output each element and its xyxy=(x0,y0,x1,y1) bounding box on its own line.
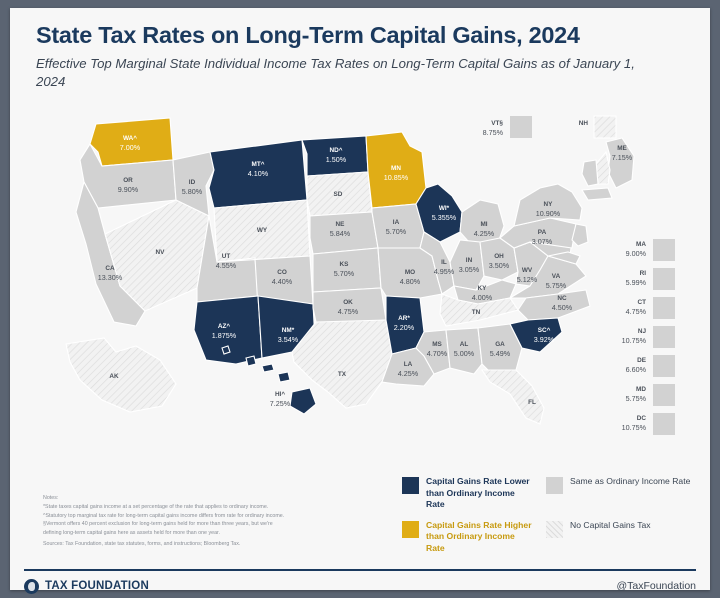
state-ok[interactable] xyxy=(313,288,386,324)
svg-text:10.75%: 10.75% xyxy=(622,336,647,345)
legend-swatch-hatch xyxy=(546,521,563,538)
state-wy[interactable] xyxy=(214,200,310,262)
us-choropleth-map: WA^7.00% OR9.90% CA13.30% ID5.80% NV MT^… xyxy=(10,108,710,458)
page-subtitle: Effective Top Marginal State Individual … xyxy=(36,55,651,90)
state-mn[interactable] xyxy=(366,132,426,208)
state-az[interactable] xyxy=(194,296,262,364)
social-handle: @TaxFoundation xyxy=(616,580,696,592)
svg-text:MD: MD xyxy=(636,386,646,393)
svg-text:HI^: HI^ xyxy=(275,390,285,398)
callout-ri[interactable]: RI 5.99% xyxy=(626,268,675,290)
infographic-card: State Tax Rates on Long-Term Capital Gai… xyxy=(10,8,710,590)
svg-text:CT: CT xyxy=(637,299,646,306)
svg-text:NH: NH xyxy=(579,120,589,127)
header: State Tax Rates on Long-Term Capital Gai… xyxy=(36,22,686,91)
legend: Capital Gains Rate Lower than Ordinary I… xyxy=(402,476,702,554)
legend-label-lower: Capital Gains Rate Lower than Ordinary I… xyxy=(426,476,534,511)
svg-text:DC: DC xyxy=(637,415,647,422)
state-ks[interactable] xyxy=(313,248,381,292)
callout-dc[interactable]: DC 10.75% xyxy=(622,413,675,435)
state-ne[interactable] xyxy=(310,212,378,254)
notes-line-4: defining long-term capital gains here as… xyxy=(43,529,388,538)
callout-nh[interactable]: NH xyxy=(579,116,616,138)
legend-item-none[interactable]: No Capital Gains Tax xyxy=(546,520,694,555)
state-hi-2[interactable] xyxy=(246,356,256,366)
legend-item-lower[interactable]: Capital Gains Rate Lower than Ordinary I… xyxy=(402,476,534,511)
callout-vt[interactable]: VT§ 8.75% xyxy=(483,116,532,138)
svg-text:DE: DE xyxy=(637,357,647,364)
svg-text:5.99%: 5.99% xyxy=(626,278,647,287)
svg-text:4.75%: 4.75% xyxy=(626,307,647,316)
state-ak[interactable] xyxy=(66,338,176,412)
state-ma-shape[interactable] xyxy=(582,188,612,200)
notes-heading: Notes: xyxy=(43,495,388,501)
state-fl[interactable] xyxy=(482,370,544,424)
svg-text:MA: MA xyxy=(636,241,646,248)
svg-text:VT§: VT§ xyxy=(491,120,503,127)
state-pa2[interactable] xyxy=(500,218,576,248)
state-me[interactable] xyxy=(606,138,634,188)
state-wa[interactable] xyxy=(90,118,173,166)
state-mt[interactable] xyxy=(209,140,307,208)
legend-swatch-navy xyxy=(402,477,419,494)
brand-name: TAX FOUNDATION xyxy=(45,580,149,592)
legend-label-none: No Capital Gains Tax xyxy=(570,520,651,532)
callout-nj[interactable]: NJ 10.75% xyxy=(622,326,675,348)
notes-sources: Sources: Tax Foundation, state tax statu… xyxy=(43,541,388,547)
state-hi-4[interactable] xyxy=(278,372,290,382)
state-sd[interactable] xyxy=(307,172,372,216)
callout-md[interactable]: MD 5.75% xyxy=(626,384,675,406)
svg-text:NJ: NJ xyxy=(638,328,647,335)
state-al[interactable] xyxy=(446,328,482,374)
callout-ma[interactable]: MA 9.00% xyxy=(626,239,675,261)
legend-label-same: Same as Ordinary Income Rate xyxy=(570,476,690,488)
notes-line-3: §Vermont offers 40 percent exclusion for… xyxy=(43,520,388,529)
tax-foundation-logo-icon xyxy=(24,579,39,594)
legend-swatch-gold xyxy=(402,521,419,538)
callout-ct[interactable]: CT 4.75% xyxy=(626,297,675,319)
legend-swatch-gray xyxy=(546,477,563,494)
callout-de[interactable]: DE 6.60% xyxy=(626,355,675,377)
legend-item-higher[interactable]: Capital Gains Rate Higher than Ordinary … xyxy=(402,520,534,555)
legend-item-same[interactable]: Same as Ordinary Income Rate xyxy=(546,476,694,511)
state-nd[interactable] xyxy=(302,136,368,176)
svg-text:6.60%: 6.60% xyxy=(626,365,647,374)
svg-text:10.75%: 10.75% xyxy=(622,423,647,432)
footer-divider xyxy=(24,569,696,571)
state-ia[interactable] xyxy=(372,204,424,248)
state-hi-1[interactable] xyxy=(222,346,230,354)
svg-text:8.75%: 8.75% xyxy=(483,128,504,137)
state-in[interactable] xyxy=(450,240,484,290)
state-hi-3[interactable] xyxy=(262,364,274,372)
state-label-hi: HI^7.25% xyxy=(270,390,291,408)
footer: TAX FOUNDATION @TaxFoundation xyxy=(24,574,696,598)
notes-line-2: ^Statutory top marginal tax rate for lon… xyxy=(43,512,388,521)
page-title: State Tax Rates on Long-Term Capital Gai… xyxy=(36,22,686,48)
svg-text:7.25%: 7.25% xyxy=(270,399,291,408)
legend-label-higher: Capital Gains Rate Higher than Ordinary … xyxy=(426,520,534,555)
state-vt-shape[interactable] xyxy=(582,160,598,186)
svg-text:9.00%: 9.00% xyxy=(626,249,647,258)
svg-text:RI: RI xyxy=(640,270,647,277)
brand-lockup[interactable]: TAX FOUNDATION xyxy=(24,579,149,594)
svg-text:5.75%: 5.75% xyxy=(626,394,647,403)
notes-line-1: *State taxes capital gains income at a s… xyxy=(43,503,388,512)
notes-block: Notes: *State taxes capital gains income… xyxy=(43,495,388,547)
state-hi-5[interactable] xyxy=(290,388,316,414)
